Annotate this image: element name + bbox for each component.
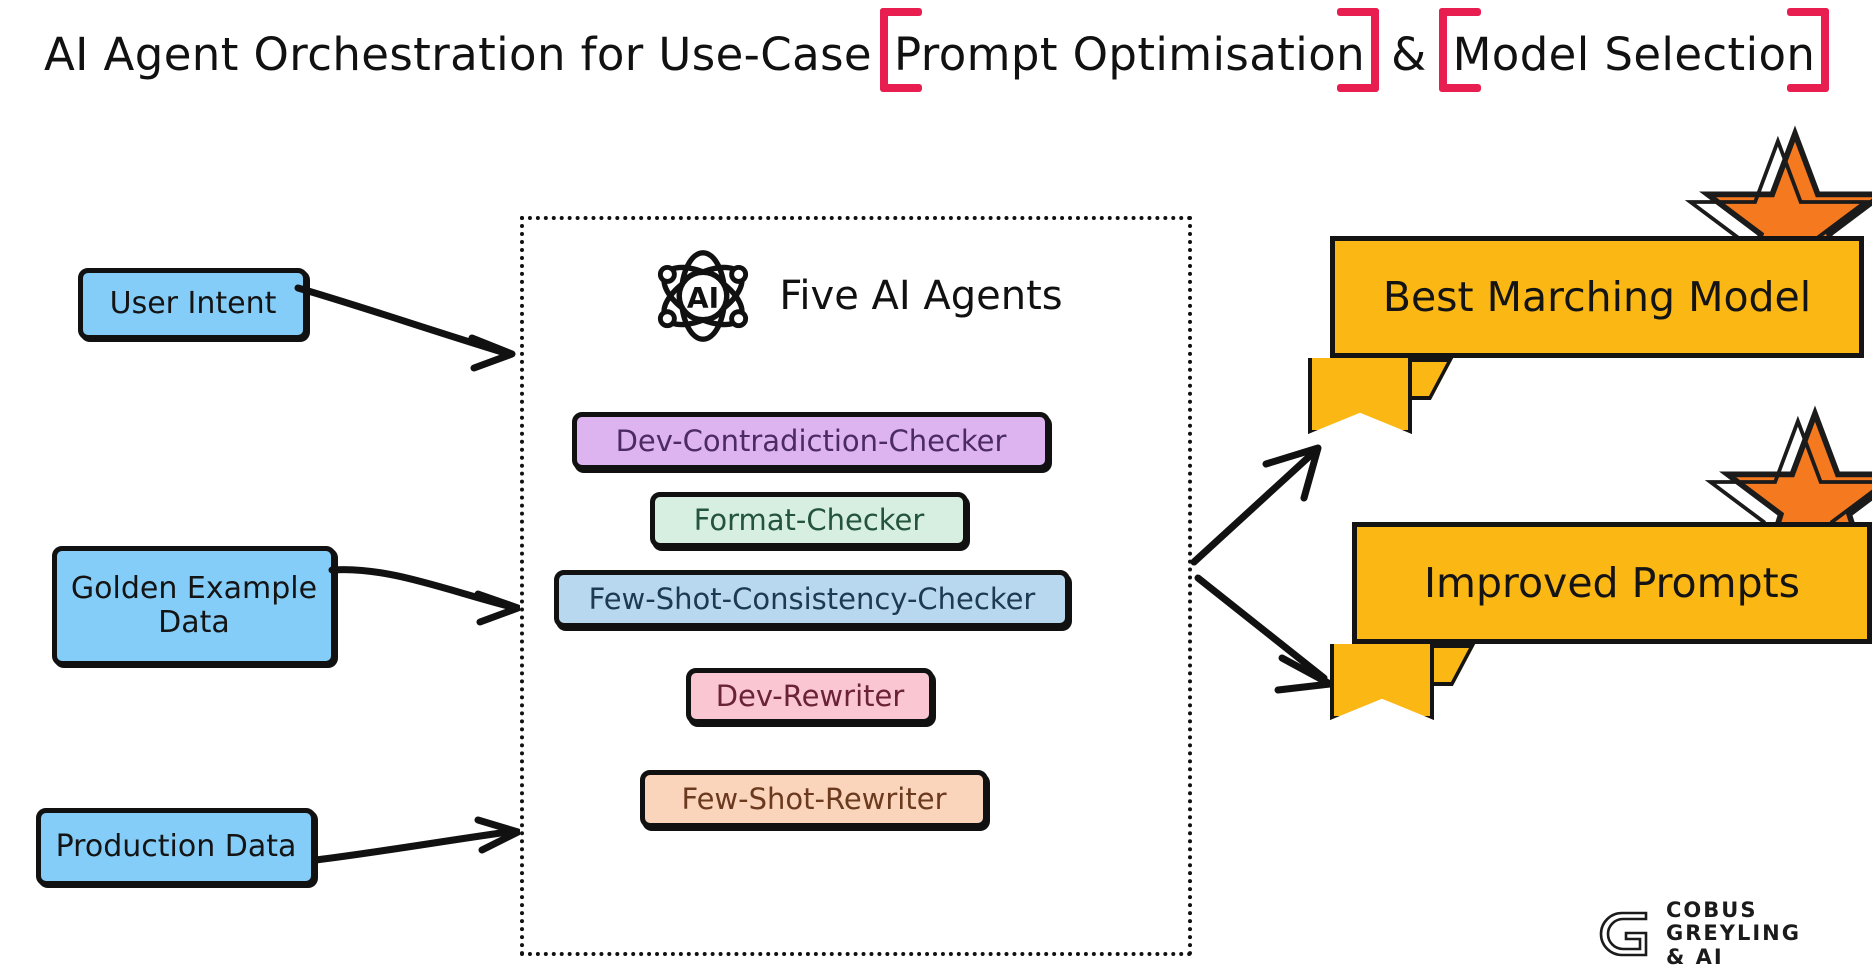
agent-pill-dev-rewriter[interactable]: Dev-Rewriter xyxy=(686,668,934,724)
input-box-production-data[interactable]: Production Data xyxy=(36,808,316,886)
agent-label: Few-Shot-Rewriter xyxy=(681,782,946,816)
agent-label: Dev-Contradiction-Checker xyxy=(616,424,1007,458)
brand-logo-text: COBUS GREYLING & AI xyxy=(1666,899,1856,970)
title-conjunction: & xyxy=(1391,28,1427,81)
ribbon-tail xyxy=(1330,644,1434,720)
input-label: User Intent xyxy=(110,287,277,321)
cobus-g-monogram-icon xyxy=(1596,907,1652,961)
arrow-golden-example-to-panel xyxy=(326,560,536,640)
title-highlight-2-label: Model Selection xyxy=(1453,28,1816,81)
agent-pill-few-shot-rewriter[interactable]: Few-Shot-Rewriter xyxy=(640,770,988,828)
output-ribbon-label-improved-prompts: Improved Prompts xyxy=(1352,522,1872,644)
agents-panel: AI Five AI Agents Dev-Contradiction-Chec… xyxy=(520,216,1192,956)
title-highlight-prompt-optimisation: Prompt Optimisation xyxy=(882,28,1377,81)
title-highlight-1-label: Prompt Optimisation xyxy=(894,28,1365,81)
brand-logo-line1: COBUS GREYLING xyxy=(1666,899,1856,946)
ai-atom-label: AI xyxy=(687,282,719,315)
title-prefix: AI Agent Orchestration for Use-Case xyxy=(44,28,872,81)
input-label: Production Data xyxy=(56,830,297,864)
input-label-line1: Golden Example xyxy=(71,572,317,606)
agent-pill-few-shot-consistency-checker[interactable]: Few-Shot-Consistency-Checker xyxy=(554,570,1070,628)
ribbon-text: Best Marching Model xyxy=(1383,273,1811,321)
agent-label: Format-Checker xyxy=(694,503,925,537)
arrow-production-data-to-panel xyxy=(310,812,536,892)
agents-panel-title: Five AI Agents xyxy=(779,273,1062,319)
input-box-user-intent[interactable]: User Intent xyxy=(78,268,308,340)
agent-pill-format-checker[interactable]: Format-Checker xyxy=(650,492,968,548)
page-title: AI Agent Orchestration for Use-Case Prom… xyxy=(44,14,1844,94)
diagram-canvas: AI Agent Orchestration for Use-Case Prom… xyxy=(0,0,1872,980)
agent-pill-dev-contradiction-checker[interactable]: Dev-Contradiction-Checker xyxy=(572,412,1050,470)
agent-label: Dev-Rewriter xyxy=(716,679,905,713)
input-label-line2: Data xyxy=(158,606,230,640)
brand-logo-line2: & AI xyxy=(1666,946,1856,970)
output-ribbon-label-best-model: Best Marching Model xyxy=(1330,236,1864,358)
ai-atom-icon: AI xyxy=(649,242,757,350)
output-ribbon-best-model[interactable]: Best Marching Model xyxy=(1300,130,1872,430)
brand-logo: COBUS GREYLING & AI xyxy=(1596,902,1856,966)
output-ribbon-improved-prompts[interactable]: Improved Prompts xyxy=(1320,400,1872,720)
agents-panel-header: AI Five AI Agents xyxy=(524,242,1188,350)
title-highlight-model-selection: Model Selection xyxy=(1441,28,1828,81)
input-box-golden-example-data[interactable]: Golden Example Data xyxy=(52,546,336,666)
arrow-user-intent-to-panel xyxy=(290,268,540,378)
ribbon-text: Improved Prompts xyxy=(1424,559,1800,607)
agent-label: Few-Shot-Consistency-Checker xyxy=(589,582,1036,616)
